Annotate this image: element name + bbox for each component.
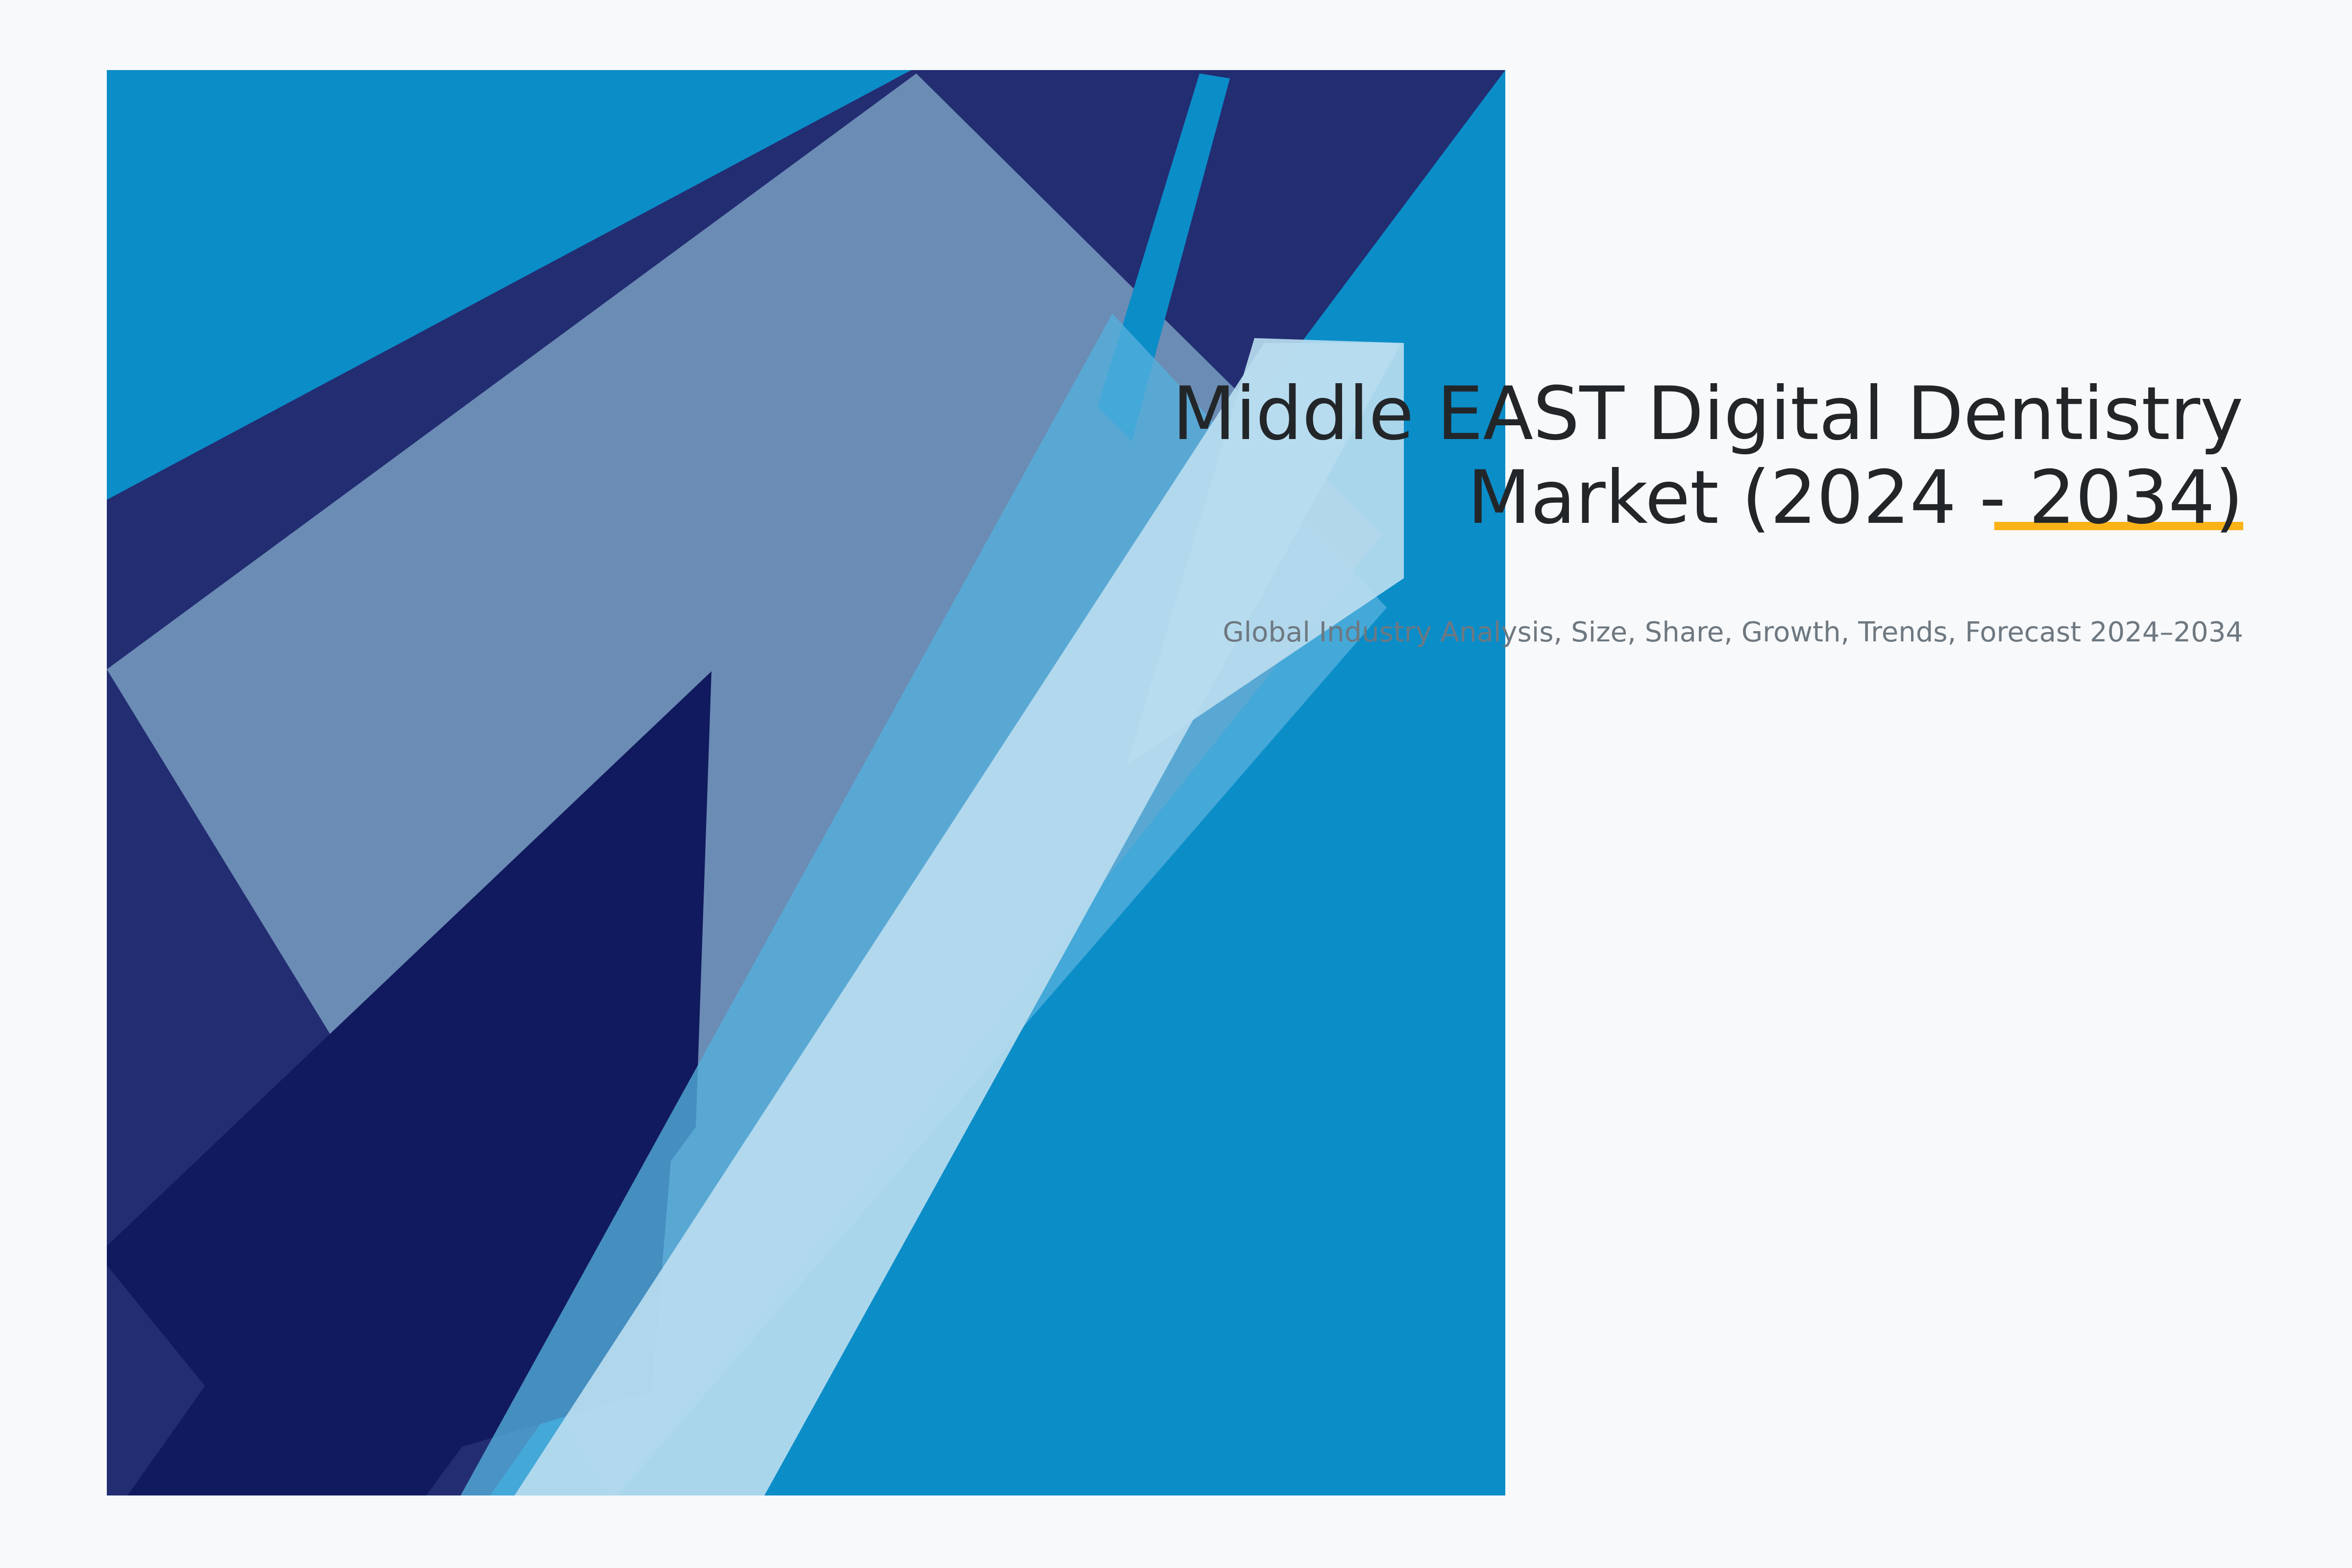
page-subtitle: Global Industry Analysis, Size, Share, G… bbox=[1116, 540, 2243, 650]
title-wrapper: Middle EAST Digital Dentistry Market (20… bbox=[1116, 372, 2243, 540]
hero-text-block: Middle EAST Digital Dentistry Market (20… bbox=[1116, 372, 2243, 650]
report-cover-page: Middle EAST Digital Dentistry Market (20… bbox=[0, 0, 2352, 1568]
page-title: Middle EAST Digital Dentistry Market (20… bbox=[1116, 372, 2243, 540]
hero-artwork bbox=[0, 0, 2352, 1568]
